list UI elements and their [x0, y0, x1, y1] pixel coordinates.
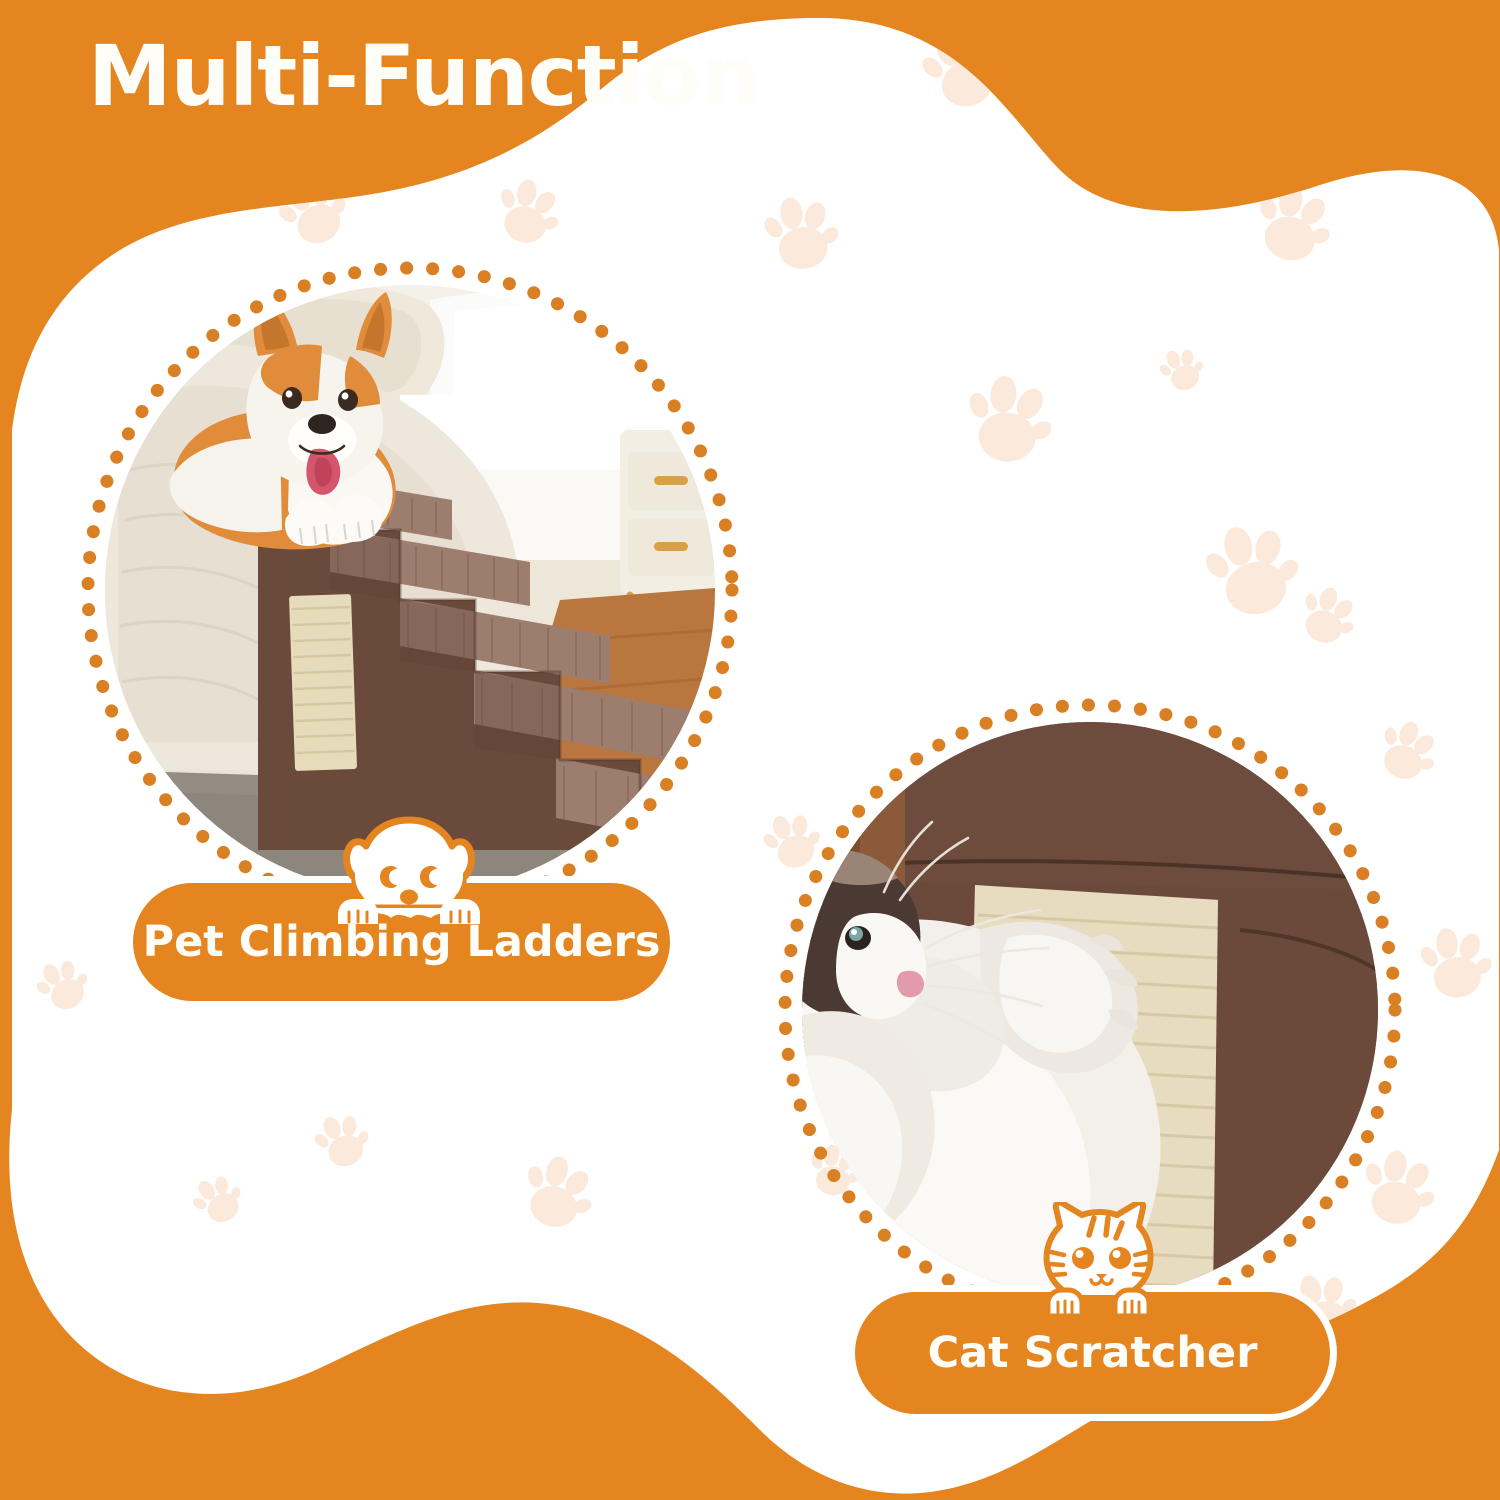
dog-face-icon: [333, 812, 485, 924]
feature-label-cat-scratcher: Cat Scratcher: [928, 1328, 1258, 1378]
feature-label-pet-climbing-ladders: Pet Climbing Ladders: [143, 917, 661, 967]
page-title: Multi-Function: [88, 34, 759, 118]
white-panel-blob: [0, 0, 1500, 1500]
cat-face-icon: [1036, 1202, 1162, 1316]
infographic-canvas: Multi-Function Pet Climbing Ladders: [0, 0, 1500, 1500]
